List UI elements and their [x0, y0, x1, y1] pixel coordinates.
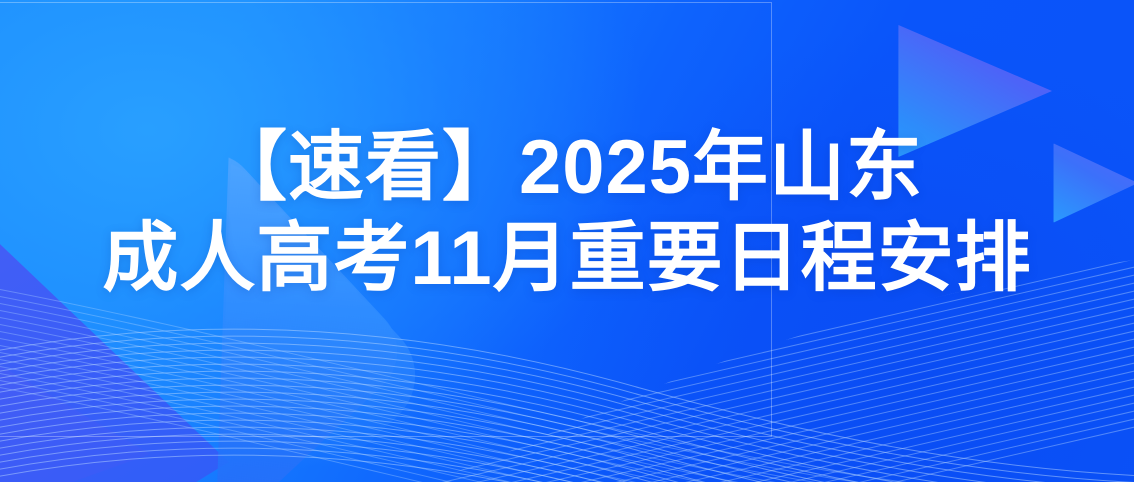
- promo-banner: 【速看】2025年山东 成人高考11月重要日程安排: [0, 0, 1134, 482]
- headline-line-1: 【速看】2025年山东: [0, 125, 1134, 210]
- headline-line-2: 成人高考11月重要日程安排: [0, 216, 1134, 301]
- page-title: 【速看】2025年山东 成人高考11月重要日程安排: [0, 125, 1134, 301]
